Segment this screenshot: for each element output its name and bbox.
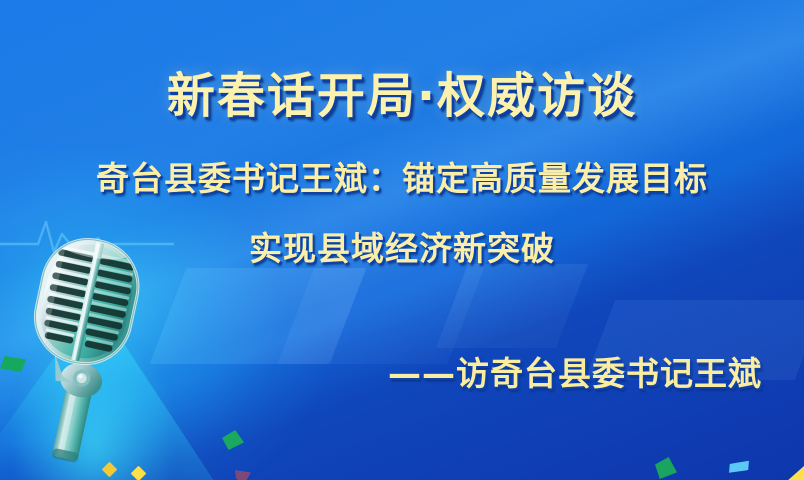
interview-banner: 新春话开局·权威访谈 奇台县委书记王斌：锚定高质量发展目标 实现县域经济新突破 … xyxy=(0,0,804,480)
page-title: 新春话开局·权威访谈 xyxy=(0,56,804,126)
text-layer: 新春话开局·权威访谈 奇台县委书记王斌：锚定高质量发展目标 实现县域经济新突破 … xyxy=(0,0,804,480)
subtitle-line-2: 实现县域经济新突破 xyxy=(0,222,804,270)
byline: ——访奇台县委书记王斌 xyxy=(388,347,762,395)
subtitle-line-1: 奇台县委书记王斌：锚定高质量发展目标 xyxy=(0,152,804,200)
